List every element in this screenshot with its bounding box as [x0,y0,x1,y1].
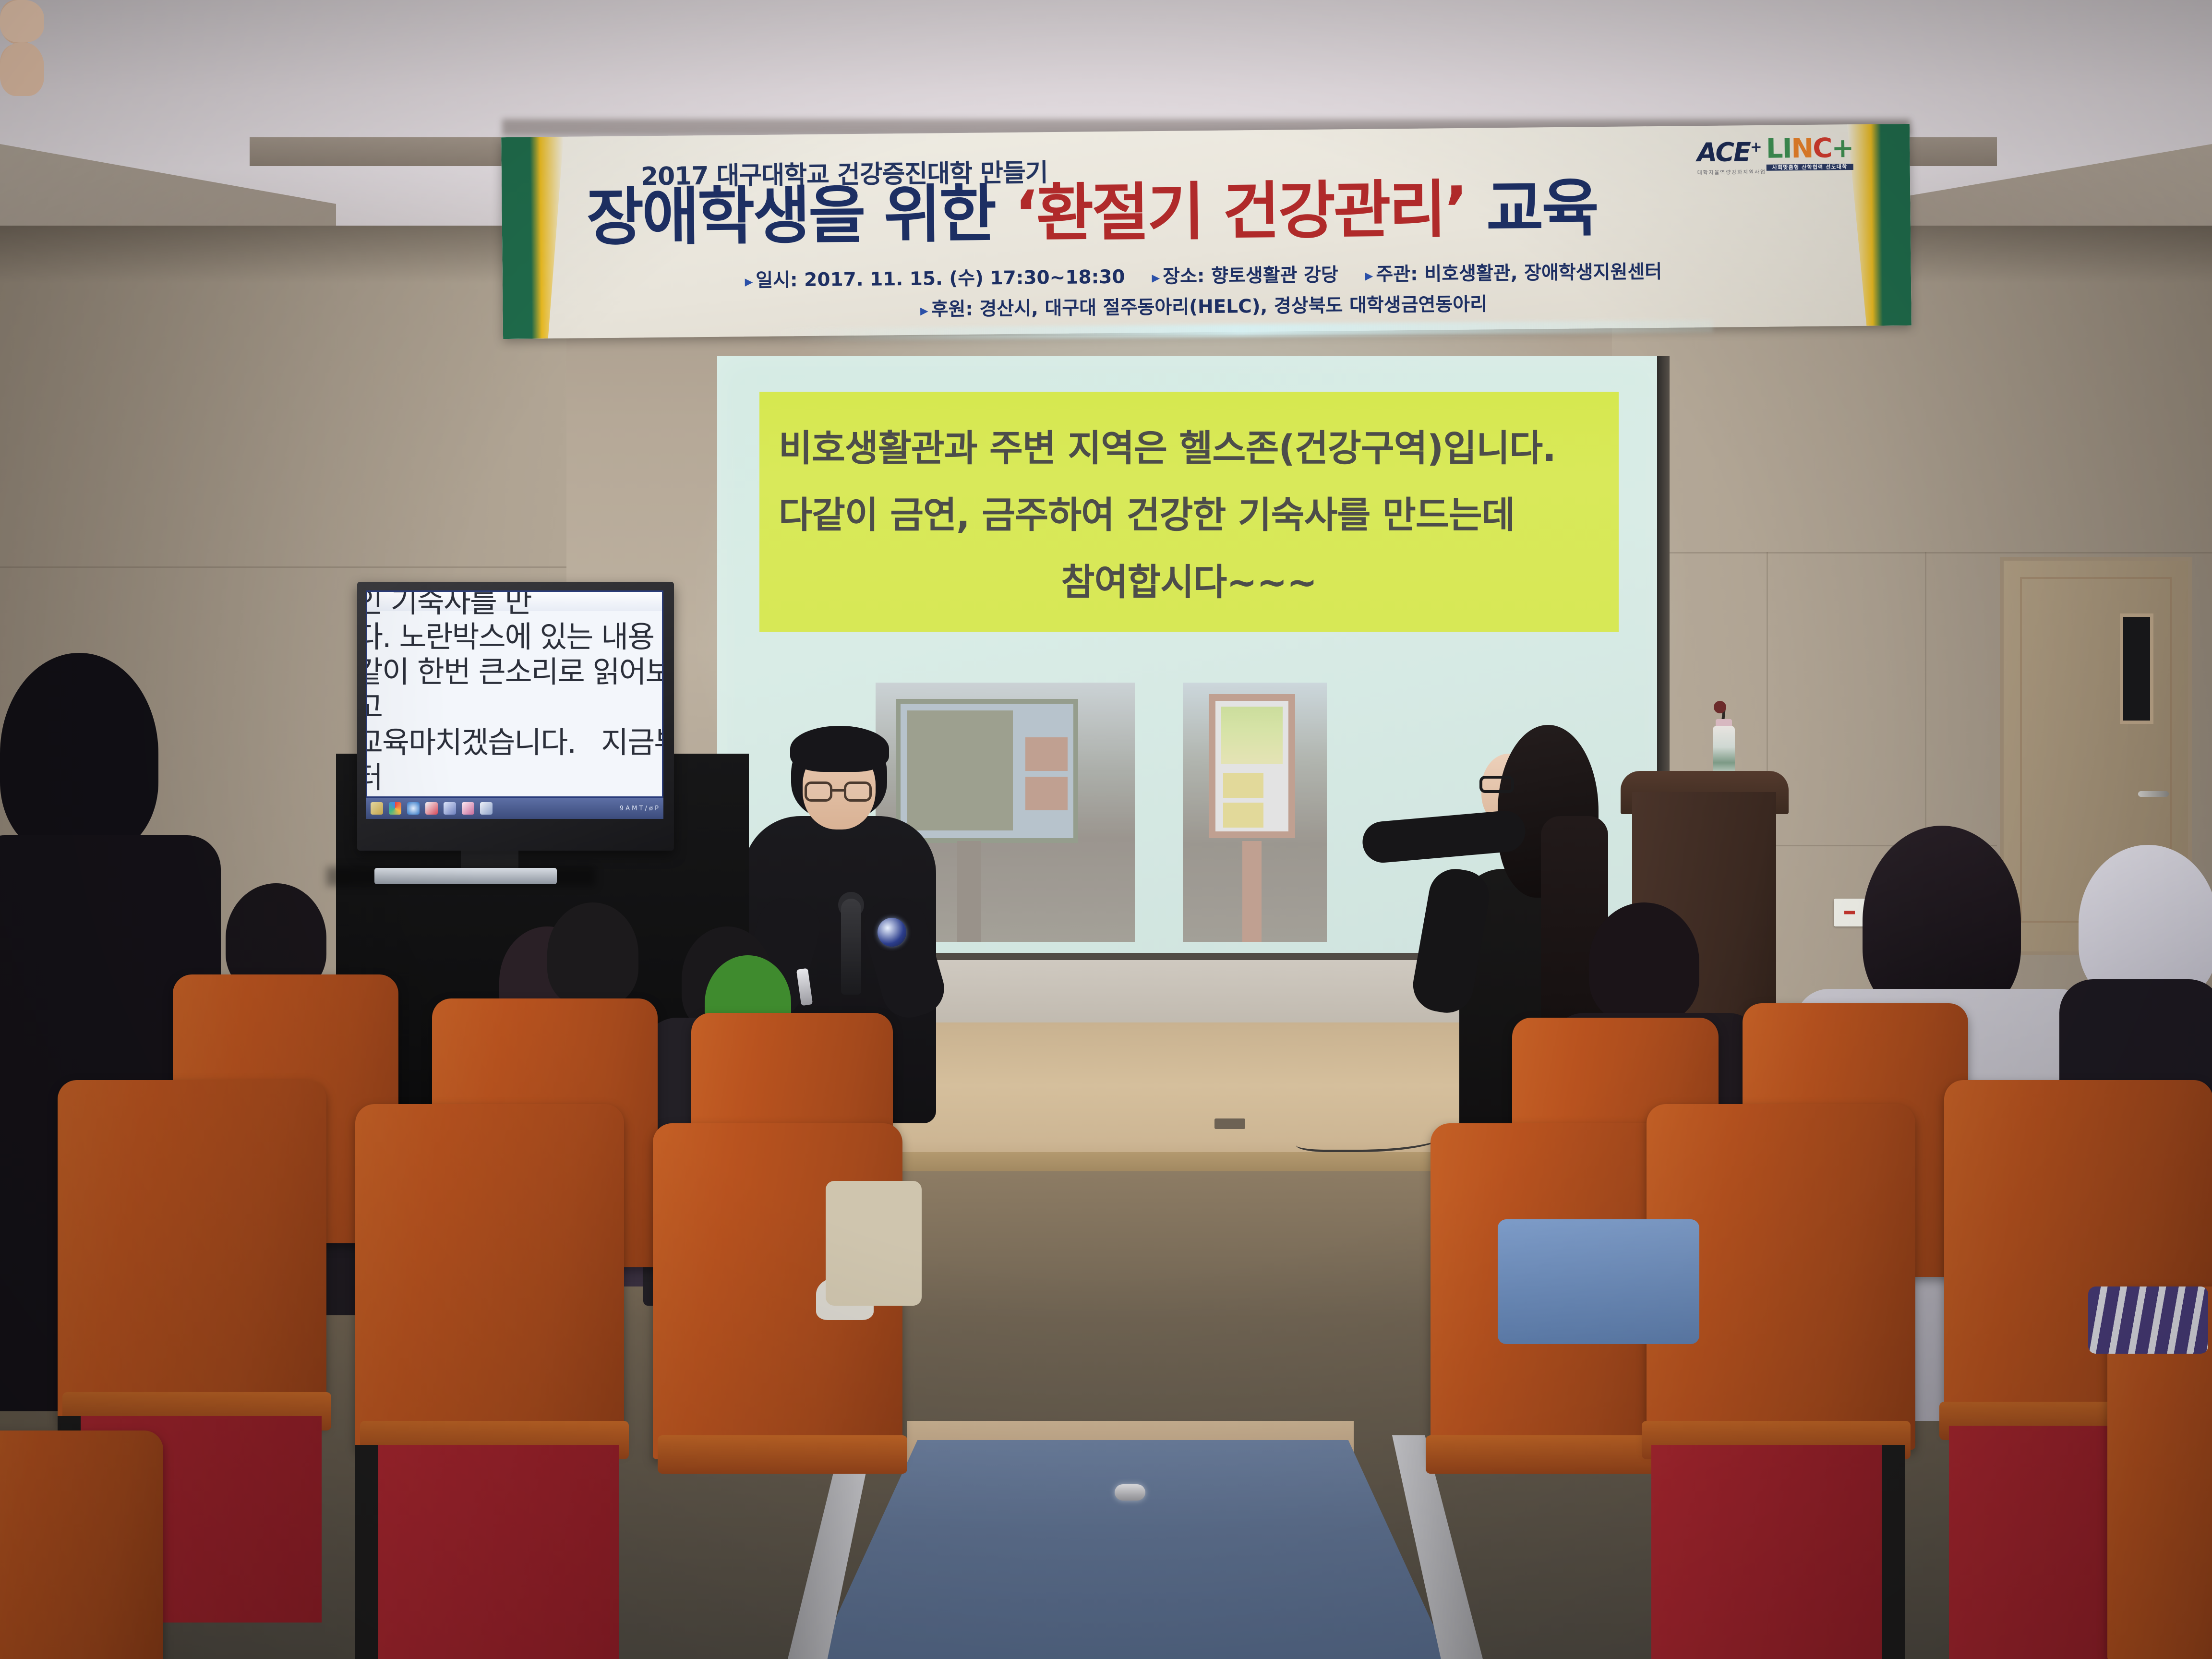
signboard-tall-post [1242,841,1262,942]
mail-icon[interactable] [444,802,456,815]
banner-meta-datetime: 일시: 2017. 11. 15. (수) 17:30~18:30 [745,262,1125,293]
caption-text: 인 기숙사를 만 다. 노란박스에 있는 내용 다 같이 한번 큰소리로 읽어보… [366,590,663,798]
ace-logo-plus: + [1750,139,1761,156]
seat-edge [1882,1445,1905,1659]
caption-monitor[interactable]: 인 기숙사를 만 다. 노란박스에 있는 내용 다 같이 한번 큰소리로 읽어보… [357,582,674,851]
document-icon[interactable] [480,802,493,815]
spacer [854,902,874,922]
signboard-tall-icon-1 [1223,773,1263,798]
signboard-wide-panel [907,710,1013,830]
windows-taskbar[interactable]: 9 A M T / ø P [366,798,663,819]
speaker-hair-front [790,726,889,772]
signboard-wide-graphic [896,699,1078,843]
banner-title-part2: 교육 [1466,171,1598,246]
seat-side-panel [370,1445,619,1659]
audience-head [1589,902,1699,1022]
ace-plus-logo: ACE+ 대학자율역량강화지원사업 [1697,137,1766,176]
internet-explorer-icon[interactable] [407,802,420,815]
speaker-glasses-left [805,781,832,802]
banner-title-highlight: ‘환절기 건강관리’ [1014,173,1467,250]
notepad-icon[interactable] [462,802,474,815]
interpreter-hand-near [0,42,44,96]
audience-head [0,653,158,854]
signboard-tall-icon-2 [1223,803,1263,828]
signboard-wide-icon-2 [1025,777,1068,810]
ace-logo-subtitle: 대학자율역량강화지원사업 [1697,168,1766,176]
slide-photo-signboard-tall [1183,683,1327,942]
seat-edge [355,1445,378,1659]
interpreter-hand-far [0,0,44,42]
audience-head [547,902,638,1006]
person-sign-language-interpreter [0,0,44,96]
slide-line-3: 참여합시다~~~ [779,553,1599,605]
signboard-tall-panel [1221,707,1283,764]
emergency-call-switch[interactable] [1834,899,1865,926]
speaker-glasses-right [844,781,872,802]
slide-highlight-box: 비호생활관과 주변 지역은 헬스존(건강구역)입니다. 다같이 금연, 금주하여… [759,392,1619,632]
slide-line-1: 비호생활관과 주변 지역은 헬스존(건강구역)입니다. [779,419,1599,471]
aisle-floor-fixture [1115,1484,1145,1501]
banner-title-part1: 장애학생을 위한 [586,177,1015,254]
signboard-wide-post [957,841,981,942]
draped-jacket [1498,1219,1699,1344]
linc-logo-subtitle: 사회맞춤형 산학협력 선도대학 [1766,164,1853,171]
media-player-icon[interactable] [425,802,438,815]
file-explorer-icon[interactable] [371,802,383,815]
caption-monitor-screen: 인 기숙사를 만 다. 노란박스에 있는 내용 다 같이 한번 큰소리로 읽어보… [366,590,663,798]
event-banner: 2017 대구대학교 건강증진대학 만들기 장애학생을 위한 ‘환절기 건강관리… [501,124,1911,339]
podium-microphone-head [1714,701,1726,713]
seat-back[interactable] [0,1431,163,1659]
wall-seam [1642,552,2212,553]
ace-logo-text: ACE [1697,137,1750,168]
slide-photo-group [876,683,1442,942]
banner-meta-place: 장소: 향토생활관 강당 [1152,260,1338,289]
wall-seam [0,566,566,568]
door-vision-panel [2120,613,2153,724]
chrome-icon[interactable] [389,802,401,815]
stage-floor-outlet-right [1214,1118,1245,1129]
banner-meta-host: 주관: 비호생활관, 장애학생지원센터 [1365,257,1662,287]
audience-trousers [826,1181,922,1306]
seat-back[interactable] [58,1080,326,1426]
system-tray[interactable]: 9 A M T / ø P [620,805,659,812]
slide-line-2: 다같이 금연, 금주하여 건강한 기숙사를 만드는데 [779,485,1599,538]
seat-armrest[interactable] [658,1435,907,1474]
seat-armrest[interactable] [1426,1435,1675,1474]
banner-edge-left [501,137,565,339]
speaker-name-badge [878,918,906,947]
auditorium-photo: 2017 대구대학교 건강증진대학 만들기 장애학생을 위한 ‘환절기 건강관리… [0,0,2212,1659]
striped-scarf [2088,1286,2208,1354]
banner-edge-right [1847,124,1911,326]
signboard-tall-graphic [1209,694,1295,838]
seat-side-panel [1651,1445,1901,1659]
signboard-wide-icon-1 [1025,737,1068,771]
door-handle[interactable] [2138,791,2169,797]
monitor-base [374,868,557,884]
interpreter-glasses [1479,776,1514,793]
linc-plus-logo: LINC+ 사회맞춤형 산학협력 선도대학 [1766,135,1853,171]
seat-back[interactable] [355,1104,624,1450]
speaker-glasses-bridge [832,789,845,792]
center-aisle-carpet [816,1440,1450,1659]
banner-title: 장애학생을 위한 ‘환절기 건강관리’ 교육 [586,175,1815,249]
